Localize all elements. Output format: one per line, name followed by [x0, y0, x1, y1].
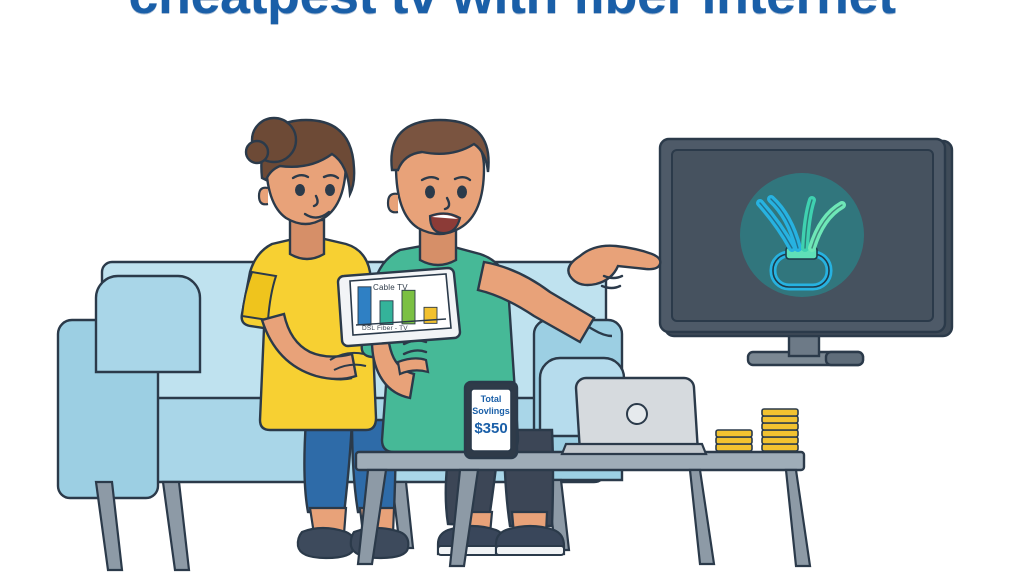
- scene-illustration: [0, 0, 1024, 576]
- coin: [716, 444, 752, 451]
- laptop[interactable]: [562, 378, 706, 454]
- coin: [762, 423, 798, 430]
- chart-bar: [380, 301, 393, 325]
- coffee-table: [356, 452, 810, 566]
- chart-bar: [402, 290, 415, 324]
- illustration-canvas: cheatpest tv with fiber internet: [0, 0, 1024, 576]
- coin: [716, 430, 752, 437]
- coin: [762, 416, 798, 423]
- television: [660, 139, 952, 365]
- coin-stacks: [716, 409, 798, 451]
- tablet-chart-axis-labels: DSL Fiber - TV: [362, 325, 408, 332]
- coin: [716, 437, 752, 444]
- coin: [762, 444, 798, 451]
- phone-savings-amount: $350: [468, 420, 514, 437]
- coin: [762, 437, 798, 444]
- coin: [762, 430, 798, 437]
- phone-label-line1: Total: [468, 394, 514, 404]
- tablet-chart-title: Cable TV: [373, 283, 408, 292]
- coin: [762, 409, 798, 416]
- chart-bar: [358, 287, 371, 325]
- phone-label-line2: Sovlings: [468, 406, 514, 416]
- tablet[interactable]: [338, 268, 460, 346]
